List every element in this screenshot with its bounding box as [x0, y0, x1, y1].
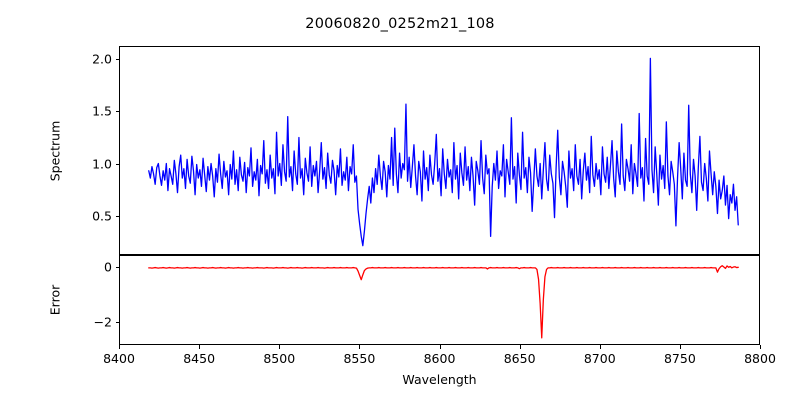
error-series-line: [120, 256, 759, 344]
x-tick-label: 8550: [343, 351, 375, 366]
x-tick-mark: [199, 345, 200, 349]
x-tick-label: 8500: [263, 351, 295, 366]
y-tick-mark: [116, 111, 120, 112]
x-tick-mark: [279, 345, 280, 349]
error-y-axis-label: Error: [48, 285, 63, 315]
y-tick-mark: [116, 216, 120, 217]
x-tick-label: 8600: [424, 351, 456, 366]
x-tick-mark: [600, 345, 601, 349]
y-tick-mark: [116, 322, 120, 323]
y-tick-label: 1.0: [67, 156, 112, 171]
spectrum-series-line: [120, 47, 759, 254]
y-tick-label: 0.5: [67, 209, 112, 224]
x-tick-label: 8700: [584, 351, 616, 366]
spectrum-y-axis-label: Spectrum: [48, 120, 63, 181]
x-tick-mark: [520, 345, 521, 349]
y-tick-label: 1.5: [67, 104, 112, 119]
y-tick-label: −2: [67, 314, 112, 329]
x-tick-mark: [760, 345, 761, 349]
x-tick-label: 8800: [744, 351, 776, 366]
figure-canvas: 20060820_0252m21_108 0.51.01.52.0 Spectr…: [0, 0, 800, 400]
y-tick-label: 0: [67, 259, 112, 274]
x-tick-mark: [359, 345, 360, 349]
x-tick-label: 8750: [664, 351, 696, 366]
x-tick-mark: [680, 345, 681, 349]
x-axis-label: Wavelength: [119, 372, 760, 387]
x-tick-label: 8450: [183, 351, 215, 366]
y-tick-mark: [116, 59, 120, 60]
x-tick-label: 8650: [504, 351, 536, 366]
y-tick-mark: [116, 267, 120, 268]
spectrum-plot-area: [119, 46, 760, 255]
x-tick-mark: [119, 345, 120, 349]
x-tick-label: 8400: [103, 351, 135, 366]
page-title: 20060820_0252m21_108: [0, 16, 800, 32]
y-tick-label: 2.0: [67, 51, 112, 66]
error-plot-area: [119, 255, 760, 345]
x-tick-mark: [440, 345, 441, 349]
y-tick-mark: [116, 164, 120, 165]
